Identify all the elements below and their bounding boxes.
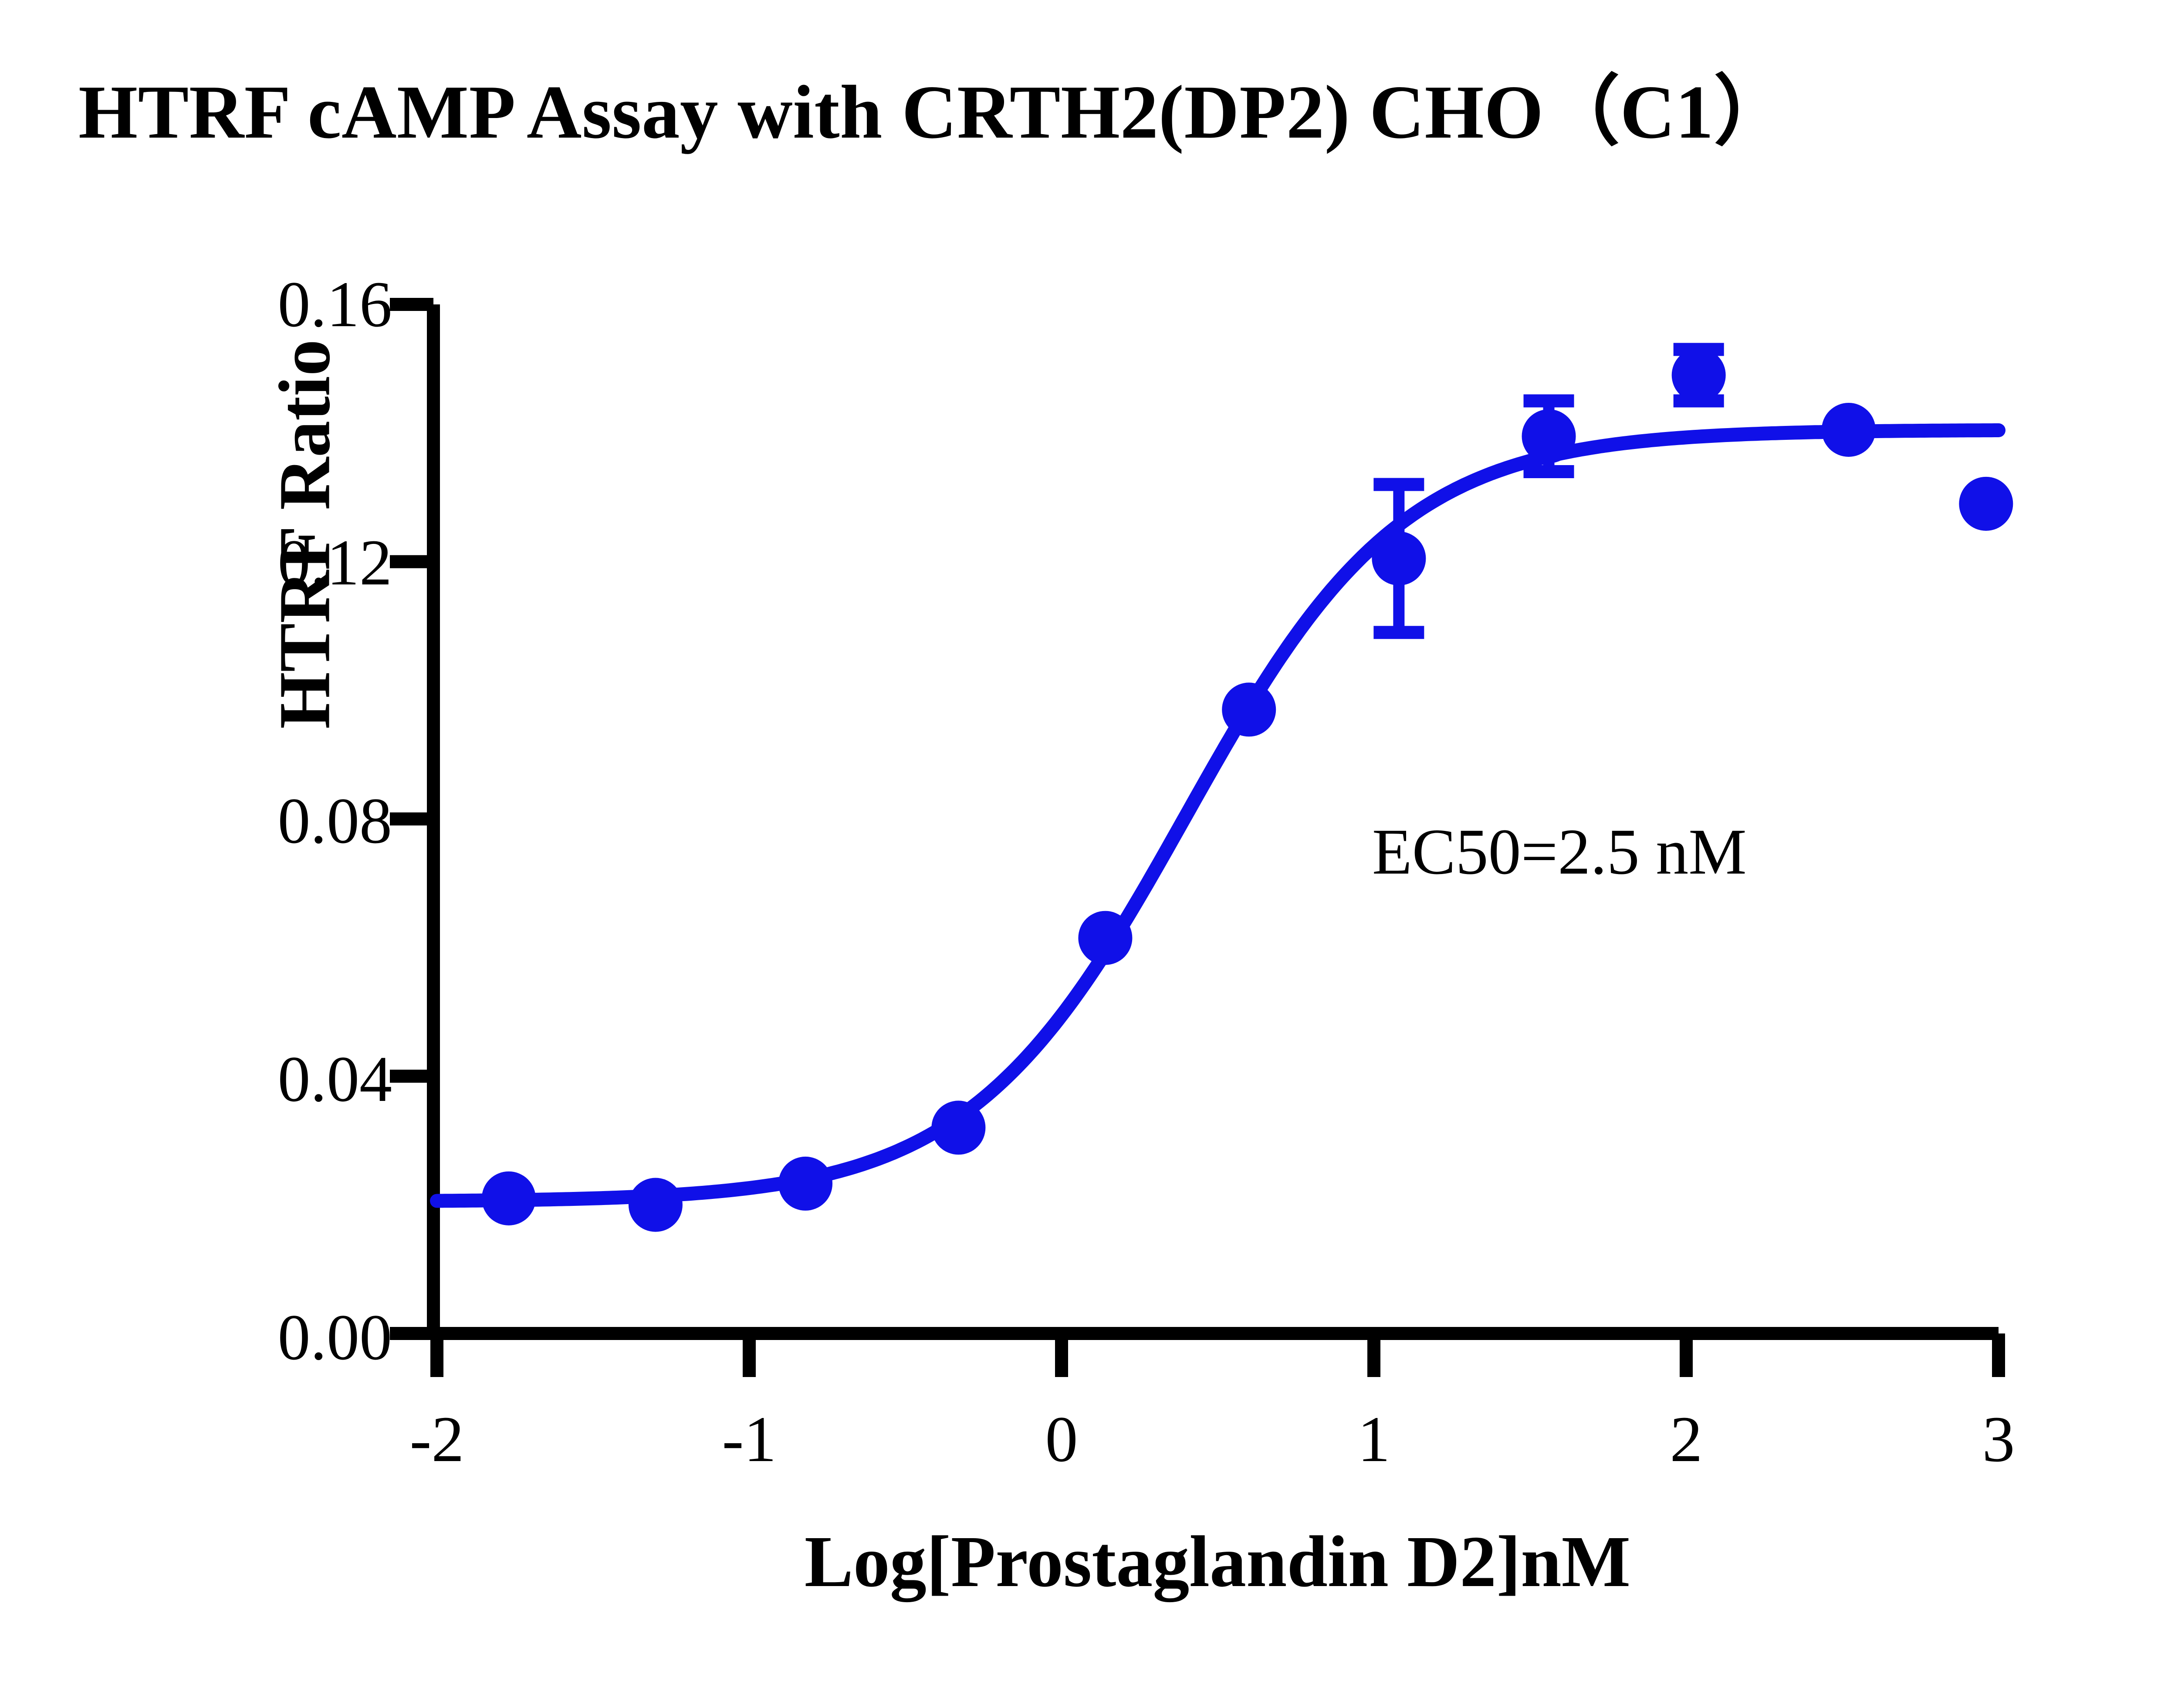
data-point-marker[interactable] <box>1222 682 1276 736</box>
data-point-marker[interactable] <box>1672 348 1726 402</box>
chart-figure: HTRF cAMP Assay with CRTH2(DP2) CHO（C1） … <box>0 0 2178 1708</box>
data-point-marker[interactable] <box>482 1171 536 1225</box>
data-point-marker[interactable] <box>629 1178 683 1232</box>
data-point-marker[interactable] <box>778 1157 832 1211</box>
data-point-marker[interactable] <box>1522 409 1576 463</box>
data-point-marker[interactable] <box>1078 911 1132 965</box>
error-bars-layer <box>1373 349 1724 632</box>
data-point-marker[interactable] <box>1822 403 1876 457</box>
data-point-marker[interactable] <box>1372 531 1426 585</box>
data-point-marker[interactable] <box>1959 477 2013 531</box>
plot-area <box>0 0 2178 1708</box>
fit-curve <box>437 430 1999 1201</box>
data-point-marker[interactable] <box>931 1100 985 1154</box>
fit-curve-layer <box>437 430 1999 1201</box>
data-markers-layer <box>482 348 2013 1232</box>
